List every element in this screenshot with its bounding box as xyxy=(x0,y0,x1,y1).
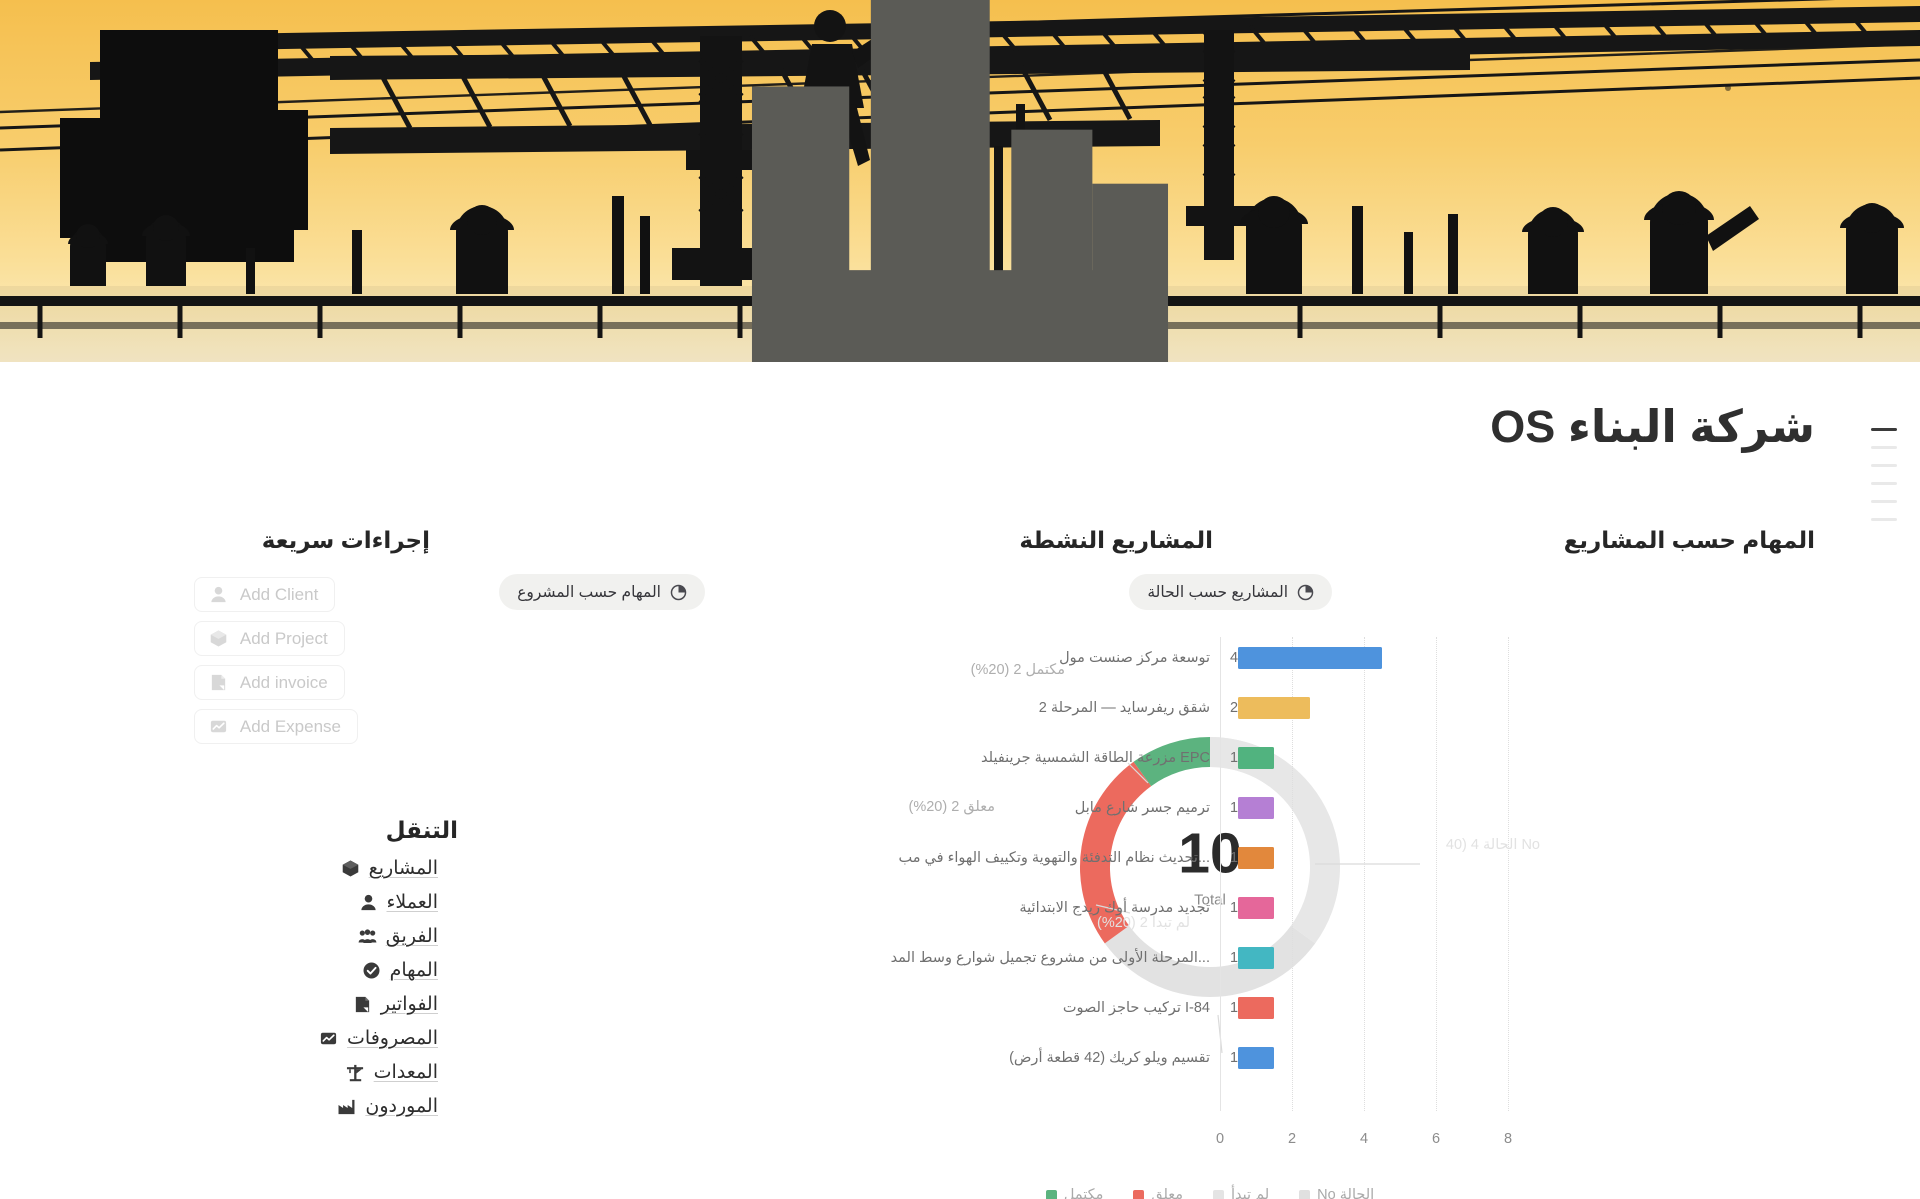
bar-value: 1 xyxy=(1230,950,1238,966)
bar-fill xyxy=(1238,847,1274,869)
section-heading-navigation: التنقل xyxy=(386,817,458,844)
donut-legend: مكتمل معلق لم تبدأ الحالة No xyxy=(900,1187,1520,1199)
rail-line-6[interactable] xyxy=(1871,518,1897,521)
box-icon xyxy=(209,629,228,648)
rail-line-2[interactable] xyxy=(1871,446,1897,449)
nav-item-expenses-label: المصروفات xyxy=(347,1027,438,1050)
nav-item-equipment[interactable]: المعدات xyxy=(346,1061,438,1084)
bar-xtick-0: 0 xyxy=(1216,1131,1224,1147)
check-circle-icon xyxy=(362,961,381,980)
people-icon xyxy=(358,927,377,946)
bar-fill xyxy=(1238,647,1382,669)
bar-label: ...المرحلة الأولى من مشروع تجميل شوارع و… xyxy=(891,950,1210,966)
legend-label-on-hold: معلق xyxy=(1151,1187,1183,1199)
nav-item-projects-label: المشاريع xyxy=(369,857,438,880)
nav-item-invoices[interactable]: الفواتير xyxy=(353,993,438,1016)
document-icon xyxy=(353,995,372,1014)
bar-xtick-2: 2 xyxy=(1288,1131,1296,1147)
nav-item-equipment-label: المعدات xyxy=(374,1061,438,1084)
bar-value: 1 xyxy=(1230,900,1238,916)
side-rail xyxy=(1862,428,1906,521)
bar-xtick-8: 8 xyxy=(1504,1131,1512,1147)
legend-item-on-hold[interactable]: معلق xyxy=(1133,1187,1183,1199)
bar-row[interactable]: تقسيم ويلو كريك (42 قطعة أرض) 1 xyxy=(1221,1047,1274,1069)
bar-value: 4 xyxy=(1230,650,1238,666)
legend-item-completed[interactable]: مكتمل xyxy=(1046,1187,1104,1199)
legend-item-no-status[interactable]: الحالة No xyxy=(1299,1187,1374,1199)
pie-chart-icon xyxy=(670,584,687,601)
donut-label-not-started: لم تبدأ 2 (20%) xyxy=(1097,915,1190,931)
nav-item-vendors[interactable]: الموردون xyxy=(337,1095,438,1118)
nav-item-tasks[interactable]: المهام xyxy=(362,959,438,982)
bar-gridline-6 xyxy=(1436,637,1437,1111)
nav-item-clients-label: العملاء xyxy=(387,891,439,914)
bar-row[interactable]: ...المرحلة الأولى من مشروع تجميل شوارع و… xyxy=(1221,947,1274,969)
bar-gridline-8 xyxy=(1508,637,1509,1111)
pill-projects-by-status[interactable]: المشاريع حسب الحالة xyxy=(1129,574,1332,610)
crane-icon xyxy=(346,1063,365,1082)
bar-value: 1 xyxy=(1230,750,1238,766)
person-icon xyxy=(359,893,378,912)
chart-line-icon xyxy=(319,1029,338,1048)
pill-projects-by-status-label: المشاريع حسب الحالة xyxy=(1147,583,1288,602)
person-icon xyxy=(209,585,228,604)
pie-chart-icon xyxy=(1297,584,1314,601)
legend-label-completed: مكتمل xyxy=(1064,1187,1104,1199)
bar-value: 2 xyxy=(1230,700,1238,716)
legend-swatch-on-hold xyxy=(1133,1190,1144,1199)
building-silhouette-logo-icon xyxy=(0,0,1920,362)
bar-label: شقق ريفرسايد — المرحلة 2 xyxy=(1039,700,1210,716)
legend-swatch-no-status xyxy=(1299,1190,1310,1199)
bar-label: EPC مزرعة الطاقة الشمسية جرينفيلد xyxy=(981,750,1210,766)
bar-value: 1 xyxy=(1230,800,1238,816)
pill-tasks-by-project-label: المهام حسب المشروع xyxy=(517,583,661,602)
add-expense-label: Add Expense xyxy=(240,717,341,737)
add-invoice-label: Add invoice xyxy=(240,673,328,693)
bar-row[interactable]: ترميم جسر شارع مابل 1 xyxy=(1221,797,1274,819)
add-client-label: Add Client xyxy=(240,585,318,605)
bar-xtick-6: 6 xyxy=(1432,1131,1440,1147)
section-heading-tasks-by-projects: المهام حسب المشاريع xyxy=(1564,527,1815,554)
bar-fill xyxy=(1238,697,1310,719)
section-heading-quick-actions: إجراءات سريعة xyxy=(262,527,430,554)
bar-gridline-4 xyxy=(1364,637,1365,1111)
legend-item-not-started[interactable]: لم تبدأ xyxy=(1213,1187,1269,1199)
bar-fill xyxy=(1238,747,1274,769)
nav-item-invoices-label: الفواتير xyxy=(381,993,438,1016)
add-invoice-button[interactable]: Add invoice xyxy=(194,665,345,700)
bar-fill xyxy=(1238,897,1274,919)
bar-row[interactable]: توسعة مركز صنست مول 4 xyxy=(1221,647,1382,669)
nav-item-projects[interactable]: المشاريع xyxy=(341,857,438,880)
bar-row[interactable]: تجديد مدرسة أوك ريدج الابتدائية 1 xyxy=(1221,897,1274,919)
legend-swatch-not-started xyxy=(1213,1190,1224,1199)
nav-item-team-label: الفريق xyxy=(386,925,438,948)
section-heading-active-projects: المشاريع النشطة xyxy=(1019,527,1213,554)
bar-value: 1 xyxy=(1230,1000,1238,1016)
box-icon xyxy=(341,859,360,878)
nav-item-vendors-label: الموردون xyxy=(365,1095,438,1118)
bar-xtick-4: 4 xyxy=(1360,1131,1368,1147)
pill-tasks-by-project[interactable]: المهام حسب المشروع xyxy=(499,574,705,610)
chart-line-icon xyxy=(209,717,228,736)
document-icon xyxy=(209,673,228,692)
bar-fill xyxy=(1238,1047,1274,1069)
tasks-by-project-bar-chart: توسعة مركز صنست مول 4 شقق ريفرسايد — الم… xyxy=(1220,637,1820,1167)
rail-line-5[interactable] xyxy=(1871,500,1897,503)
rail-line-4[interactable] xyxy=(1871,482,1897,485)
page-title: شركة البناء OS xyxy=(515,402,1815,452)
bar-row[interactable]: شقق ريفرسايد — المرحلة 2 2 xyxy=(1221,697,1310,719)
legend-swatch-completed xyxy=(1046,1190,1057,1199)
nav-item-clients[interactable]: العملاء xyxy=(359,891,439,914)
bar-value: 1 xyxy=(1230,850,1238,866)
bar-row[interactable]: I-84 تركيب حاجز الصوت 1 xyxy=(1221,997,1274,1019)
nav-item-expenses[interactable]: المصروفات xyxy=(319,1027,438,1050)
bar-value: 1 xyxy=(1230,1050,1238,1066)
add-expense-button[interactable]: Add Expense xyxy=(194,709,358,744)
add-project-label: Add Project xyxy=(240,629,328,649)
factory-icon xyxy=(337,1097,356,1116)
bar-fill xyxy=(1238,947,1274,969)
navigation-list: المشاريع العملاء الفريق xyxy=(319,857,438,1118)
donut-label-on-hold: معلق 2 (20%) xyxy=(909,799,996,815)
rail-line-3[interactable] xyxy=(1871,464,1897,467)
bar-label: تجديد مدرسة أوك ريدج الابتدائية xyxy=(1019,900,1210,916)
legend-label-no-status: الحالة No xyxy=(1317,1187,1374,1199)
bar-row[interactable]: EPC مزرعة الطاقة الشمسية جرينفيلد 1 xyxy=(1221,747,1274,769)
bar-label: I-84 تركيب حاجز الصوت xyxy=(1063,1000,1210,1016)
donut-label-completed: مكتمل 2 (20%) xyxy=(971,662,1065,678)
bar-fill xyxy=(1238,797,1274,819)
bar-label: ...تحديث نظام التدفئة والتهوية وتكييف ال… xyxy=(898,850,1210,866)
nav-item-team[interactable]: الفريق xyxy=(358,925,438,948)
bar-row[interactable]: ...تحديث نظام التدفئة والتهوية وتكييف ال… xyxy=(1221,847,1274,869)
quick-actions-list: Add Client Add Project Add invoice xyxy=(194,577,358,744)
hero-banner xyxy=(0,0,1920,362)
nav-item-tasks-label: المهام xyxy=(390,959,438,982)
add-client-button[interactable]: Add Client xyxy=(194,577,335,612)
rail-line-1[interactable] xyxy=(1871,428,1897,431)
bar-label: تقسيم ويلو كريك (42 قطعة أرض) xyxy=(1009,1050,1210,1066)
bar-fill xyxy=(1238,997,1274,1019)
bar-label: ترميم جسر شارع مابل xyxy=(1075,800,1210,816)
bar-label: توسعة مركز صنست مول xyxy=(1059,650,1210,666)
add-project-button[interactable]: Add Project xyxy=(194,621,345,656)
dashboard-page: شركة البناء OS المهام حسب المشاريع المشا… xyxy=(0,362,1920,1199)
legend-label-not-started: لم تبدأ xyxy=(1231,1187,1269,1199)
